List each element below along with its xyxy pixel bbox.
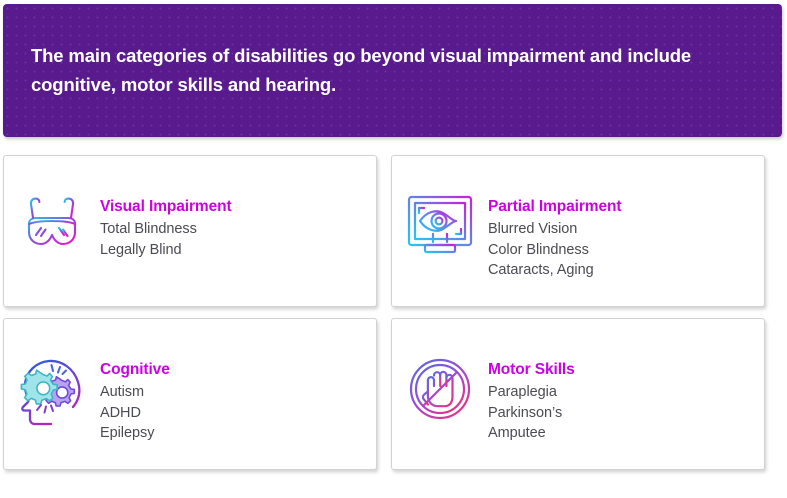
card-visual-impairment[interactable]: Visual Impairment Total Blindness Legall… [3,155,377,307]
card-cognitive[interactable]: Cognitive Autism ADHD Epilepsy [3,318,377,470]
list-item: Legally Blind [100,240,232,261]
category-card-grid: Visual Impairment Total Blindness Legall… [3,155,784,470]
card-title: Visual Impairment [100,198,232,216]
head-gears-icon [4,319,100,431]
card-title: Cognitive [100,361,170,379]
no-hand-icon [392,319,488,425]
card-body: Motor Skills Paraplegia Parkinson’s Ampu… [488,319,585,444]
card-title: Partial Impairment [488,198,621,216]
card-body: Cognitive Autism ADHD Epilepsy [100,319,180,444]
list-item: Paraplegia [488,382,575,403]
card-item-list: Blurred Vision Color Blindness Cataracts… [488,219,621,281]
card-motor-skills[interactable]: Motor Skills Paraplegia Parkinson’s Ampu… [391,318,765,470]
list-item: Total Blindness [100,219,232,240]
card-partial-impairment[interactable]: Partial Impairment Blurred Vision Color … [391,155,765,307]
safety-goggles-icon [4,156,100,254]
list-item: ADHD [100,403,170,424]
list-item: Color Blindness [488,240,621,261]
list-item: Amputee [488,423,575,444]
list-item: Cataracts, Aging [488,260,621,281]
list-item: Epilepsy [100,423,170,444]
card-body: Partial Impairment Blurred Vision Color … [488,156,631,281]
list-item: Autism [100,382,170,403]
card-title: Motor Skills [488,361,575,379]
list-item: Parkinson’s [488,403,575,424]
card-item-list: Total Blindness Legally Blind [100,219,232,260]
banner-heading: The main categories of disabilities go b… [3,42,781,99]
card-item-list: Paraplegia Parkinson’s Amputee [488,382,575,444]
card-item-list: Autism ADHD Epilepsy [100,382,170,444]
header-banner: The main categories of disabilities go b… [3,4,782,137]
list-item: Blurred Vision [488,219,621,240]
card-body: Visual Impairment Total Blindness Legall… [100,156,242,260]
monitor-eye-icon [392,156,488,264]
